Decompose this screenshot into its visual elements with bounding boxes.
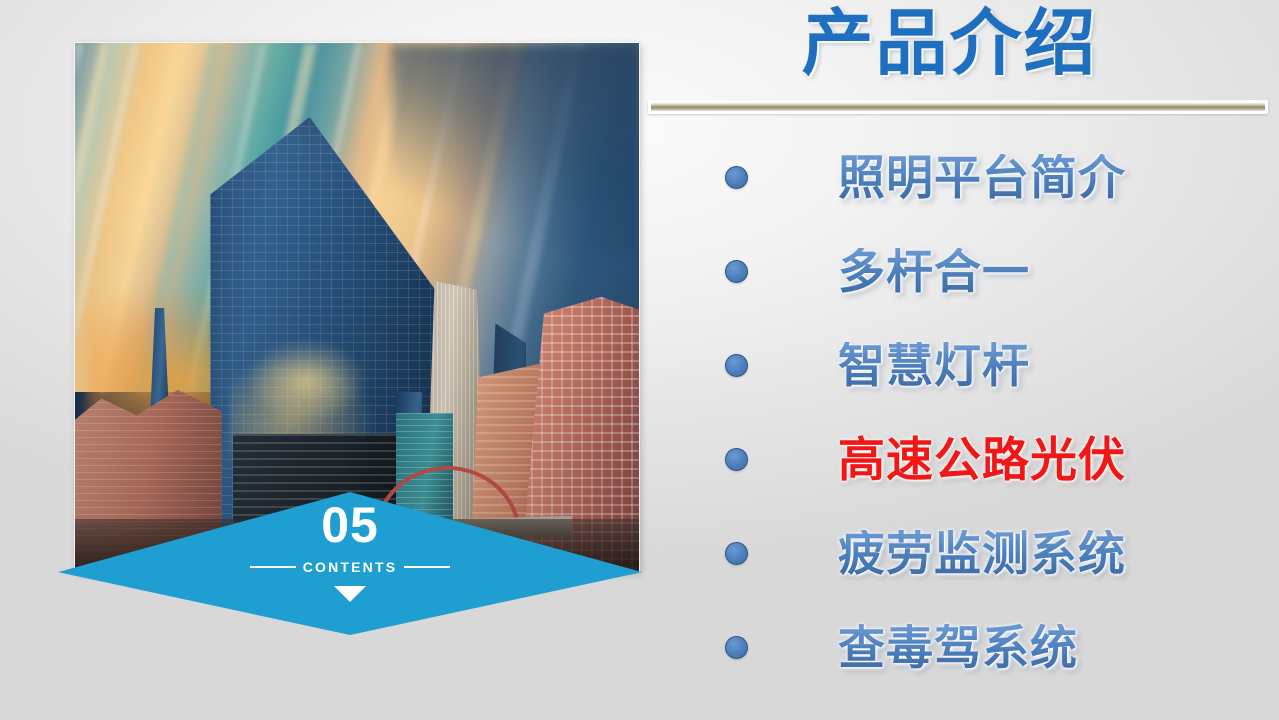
- bullet-icon: [725, 542, 748, 565]
- list-item[interactable]: 照明平台简介: [645, 130, 1279, 224]
- list-item-label: 智慧灯杆: [838, 342, 1030, 389]
- content-panel: 产品介绍 照明平台简介 多杆合一 智慧灯杆 高速公路光伏 疲劳监测系统: [645, 0, 1279, 720]
- list-item-label: 查毒驾系统: [838, 624, 1078, 671]
- bullet-icon: [725, 166, 748, 189]
- bullet-icon: [725, 448, 748, 471]
- bullet-icon: [725, 354, 748, 377]
- list-item[interactable]: 高速公路光伏: [645, 412, 1279, 506]
- city-skyline-photo: [75, 43, 639, 572]
- page-title: 产品介绍: [645, 6, 1254, 84]
- list-item[interactable]: 智慧灯杆: [645, 318, 1279, 412]
- list-item[interactable]: 查毒驾系统: [645, 600, 1279, 694]
- slide-canvas: 05 CONTENTS 产品介绍 照明平台简介 多杆合一 智慧灯杆: [0, 0, 1279, 720]
- list-item-label: 多杆合一: [838, 248, 1030, 295]
- title-divider: [648, 100, 1268, 114]
- sky-dark-layer: [391, 43, 639, 255]
- bullet-icon: [725, 260, 748, 283]
- list-item-label: 疲劳监测系统: [838, 530, 1126, 577]
- list-item-label: 高速公路光伏: [838, 436, 1126, 483]
- list-item-label: 照明平台简介: [838, 154, 1126, 201]
- city-photo-frame: [75, 43, 639, 572]
- agenda-list: 照明平台简介 多杆合一 智慧灯杆 高速公路光伏 疲劳监测系统 查毒驾系统: [645, 130, 1279, 694]
- glass-reflection: [244, 339, 368, 424]
- list-item[interactable]: 多杆合一: [645, 224, 1279, 318]
- list-item[interactable]: 疲劳监测系统: [645, 506, 1279, 600]
- bullet-icon: [725, 636, 748, 659]
